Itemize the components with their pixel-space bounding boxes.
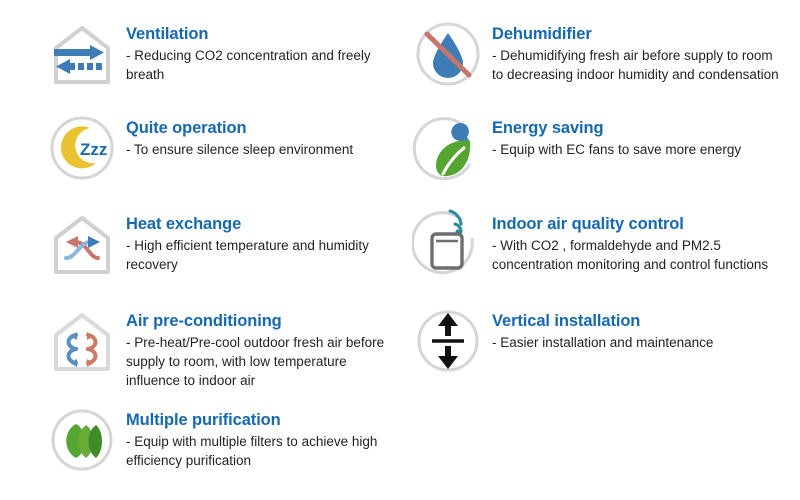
feature-multiple-purification: Multiple purification - Equip with multi…: [46, 404, 406, 476]
feature-description: - Pre-heat/Pre-cool outdoor fresh air be…: [126, 333, 398, 390]
house-crossing-arrows-icon: [46, 208, 118, 280]
feature-text: Quite operation - To ensure silence slee…: [118, 112, 426, 159]
feature-quite-operation: Zzz Quite operation - To ensure silence …: [46, 112, 406, 184]
feature-text: Dehumidifier - Dehumidifying fresh air b…: [484, 18, 782, 84]
feature-description: - Easier installation and maintenance: [492, 333, 792, 352]
water-drop-no-icon: [412, 18, 484, 90]
feature-text: Multiple purification - Equip with multi…: [118, 404, 398, 470]
feature-title: Multiple purification: [126, 410, 398, 430]
feature-vertical-installation: Vertical installation - Easier installat…: [412, 305, 784, 377]
feature-ventilation: Ventilation - Reducing CO2 concentration…: [46, 18, 406, 90]
feature-description: - Equip with multiple filters to achieve…: [126, 432, 398, 470]
feature-text: Ventilation - Reducing CO2 concentration…: [118, 18, 398, 84]
moon-zzz-icon: Zzz: [46, 112, 118, 184]
feature-air-pre-conditioning: Air pre-conditioning - Pre-heat/Pre-cool…: [46, 305, 406, 390]
leaf-plug-icon: [412, 112, 484, 184]
feature-description: - High efficient temperature and humidit…: [126, 236, 398, 274]
features-board: Ventilation - Reducing CO2 concentration…: [0, 0, 800, 500]
feature-text: Vertical installation - Easier installat…: [484, 305, 792, 352]
feature-description: - With CO2 , formaldehyde and PM2.5 conc…: [492, 236, 782, 274]
triple-leaf-icon: [46, 404, 118, 476]
feature-heat-exchange: Heat exchange - High efficient temperatu…: [46, 208, 406, 280]
feature-title: Quite operation: [126, 118, 426, 138]
feature-title: Dehumidifier: [492, 24, 782, 44]
feature-text: Air pre-conditioning - Pre-heat/Pre-cool…: [118, 305, 398, 390]
feature-title: Indoor air quality control: [492, 214, 782, 234]
feature-energy-saving: Energy saving - Equip with EC fans to sa…: [412, 112, 784, 184]
panel-wifi-icon: [412, 208, 484, 280]
house-dual-fans-icon: [46, 305, 118, 377]
feature-indoor-air-quality-control: Indoor air quality control - With CO2 , …: [412, 208, 784, 280]
feature-description: - Dehumidifying fresh air before supply …: [492, 46, 782, 84]
svg-text:Zzz: Zzz: [80, 140, 107, 159]
feature-title: Air pre-conditioning: [126, 311, 398, 331]
house-ventilation-arrows-icon: [46, 18, 118, 90]
feature-title: Vertical installation: [492, 311, 792, 331]
feature-text: Energy saving - Equip with EC fans to sa…: [484, 112, 792, 159]
feature-title: Ventilation: [126, 24, 398, 44]
feature-title: Energy saving: [492, 118, 792, 138]
up-down-arrows-icon: [412, 305, 484, 377]
feature-text: Indoor air quality control - With CO2 , …: [484, 208, 782, 274]
feature-dehumidifier: Dehumidifier - Dehumidifying fresh air b…: [412, 18, 784, 90]
feature-description: - To ensure silence sleep environment: [126, 140, 426, 159]
feature-description: - Reducing CO2 concentration and freely …: [126, 46, 398, 84]
feature-description: - Equip with EC fans to save more energy: [492, 140, 792, 159]
feature-text: Heat exchange - High efficient temperatu…: [118, 208, 398, 274]
feature-title: Heat exchange: [126, 214, 398, 234]
